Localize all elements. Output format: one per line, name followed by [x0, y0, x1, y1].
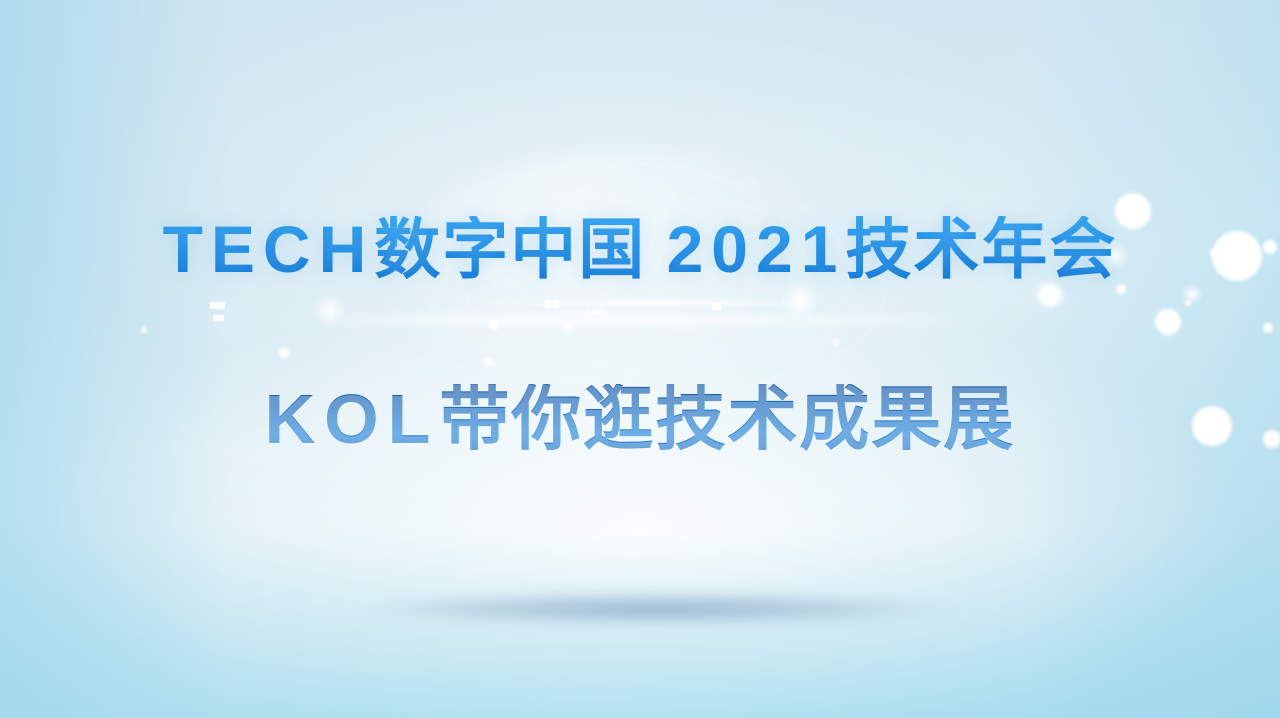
subtitle-latin-prefix: KOL	[265, 384, 440, 454]
subtitle-cjk-part: 带你逛技术成果展	[439, 384, 1015, 454]
title-cjk-part: 数字中国	[374, 216, 646, 282]
title-year: 2021	[667, 216, 846, 282]
slide-subtitle: KOL带你逛技术成果展	[0, 384, 1280, 454]
slide-text-block: TECH数字中国 2021技术年会 KOL带你逛技术成果展	[0, 0, 1280, 718]
title-slide: TECH数字中国 2021技术年会 KOL带你逛技术成果展	[0, 0, 1280, 718]
title-latin-prefix: TECH	[163, 216, 375, 282]
title-cjk-suffix: 技术年会	[845, 216, 1117, 282]
slide-title: TECH数字中国 2021技术年会	[0, 216, 1280, 282]
